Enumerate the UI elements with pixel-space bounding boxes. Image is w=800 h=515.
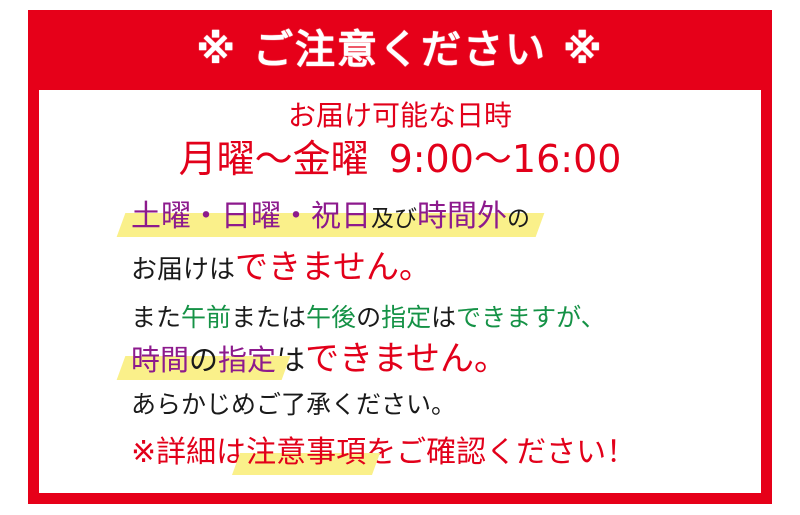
detail-notice-line: ※詳細は注意事項をご確認ください！ — [131, 438, 636, 468]
no-delivery-line: お届けはできません。 — [131, 250, 432, 283]
ampm-text-1: また — [131, 303, 181, 332]
no-time-emphasis: できません。 — [305, 339, 508, 379]
no-time-purple-1: 時間 — [131, 343, 189, 377]
notice-body: お届け可能な日時 月曜〜金曜9:00〜16:00 土曜・日曜・祝日及び時間外の … — [39, 90, 761, 493]
ampm-text-3: の — [356, 303, 381, 332]
ampm-designation-line: また午前または午後の指定はできますが、 — [131, 305, 606, 330]
ampm-text-2: または — [231, 303, 306, 332]
notice-header-banner: ※ ご注意ください ※ — [39, 10, 761, 90]
ampm-afternoon: 午後 — [306, 303, 356, 332]
delivery-hours-time: 9:00〜16:00 — [389, 137, 622, 181]
ampm-text-4: は — [431, 303, 456, 332]
closed-days-line: 土曜・日曜・祝日及び時間外の — [131, 202, 530, 232]
notice-card: ※ ご注意ください ※ お届け可能な日時 月曜〜金曜9:00〜16:00 土曜・… — [28, 10, 772, 504]
closed-days-purple-1: 土曜・日曜・祝日 — [131, 199, 371, 234]
detail-highlight: 注意事項 — [246, 438, 366, 468]
ampm-possible: できますが、 — [456, 303, 606, 332]
notice-header-title: ※ ご注意ください ※ — [196, 30, 604, 70]
no-delivery-emphasis: できません。 — [235, 247, 432, 286]
no-time-designation-line: 時間の指定はできません。 — [131, 342, 508, 376]
detail-suffix: をご確認ください！ — [366, 435, 636, 470]
detail-prefix: ※詳細は — [131, 435, 246, 470]
ampm-designation: 指定 — [381, 303, 431, 332]
closed-days-black-2: の — [507, 206, 530, 232]
no-time-black-1: の — [189, 343, 218, 377]
no-time-highlight: 時間の指定 — [131, 346, 276, 375]
delivery-hours-days: 月曜〜金曜 — [179, 137, 369, 181]
ampm-morning: 午前 — [181, 303, 231, 332]
no-delivery-prefix: お届けは — [131, 255, 235, 285]
no-time-purple-2: 指定 — [218, 343, 276, 377]
closed-days-purple-2: 時間外 — [417, 199, 507, 234]
delivery-available-subtitle: お届け可能な日時 — [39, 102, 761, 130]
closed-days-black-1: 及び — [371, 206, 417, 232]
detail-keyword: 注意事項 — [246, 435, 366, 470]
closed-days-highlight: 土曜・日曜・祝日及び時間外の — [131, 202, 530, 232]
acknowledgement-line: あらかじめご了承ください。 — [131, 392, 456, 417]
delivery-hours-line: 月曜〜金曜9:00〜16:00 — [39, 140, 761, 178]
